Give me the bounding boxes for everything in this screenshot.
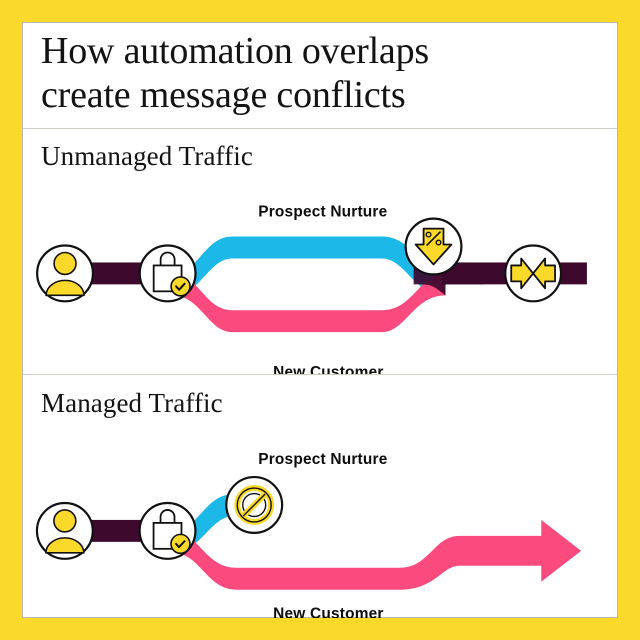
- panel-managed-traffic: Managed Traffic Prospect Nurture New Cus…: [23, 376, 617, 618]
- managed-traffic-diagram: Prospect Nurture New Customer: [23, 376, 617, 618]
- shopping-bag-check-icon: [140, 503, 196, 559]
- flow-path-new-customer-managed: [172, 520, 581, 590]
- label-new-customer: New Customer: [273, 606, 383, 618]
- blocked-no-entry-icon: [226, 477, 282, 533]
- customer-avatar-icon: [37, 246, 93, 302]
- label-prospect-nurture: Prospect Nurture: [258, 451, 388, 468]
- page-title: How automation overlaps create message c…: [41, 29, 581, 117]
- flow-path-prospect-nurture: [173, 237, 446, 296]
- label-new-customer: New Customer: [273, 364, 383, 374]
- panel-unmanaged-traffic: Unmanaged Traffic Prospect: [23, 129, 617, 375]
- label-prospect-nurture: Prospect Nurture: [258, 204, 387, 221]
- discount-percent-arrow-icon: [406, 219, 462, 275]
- message-collision-icon: [505, 246, 561, 302]
- title-block: How automation overlaps create message c…: [23, 23, 617, 129]
- flow-path-new-customer: [173, 273, 446, 332]
- customer-avatar-icon: [37, 503, 93, 559]
- page-title-line-2: create message conflicts: [41, 73, 581, 117]
- poster-card: How automation overlaps create message c…: [22, 22, 618, 618]
- unmanaged-traffic-diagram: Prospect Nurture New Customer: [23, 129, 617, 374]
- shopping-bag-check-icon: [140, 246, 196, 302]
- poster-yellow-frame: How automation overlaps create message c…: [0, 0, 640, 640]
- page-title-line-1: How automation overlaps: [41, 29, 581, 73]
